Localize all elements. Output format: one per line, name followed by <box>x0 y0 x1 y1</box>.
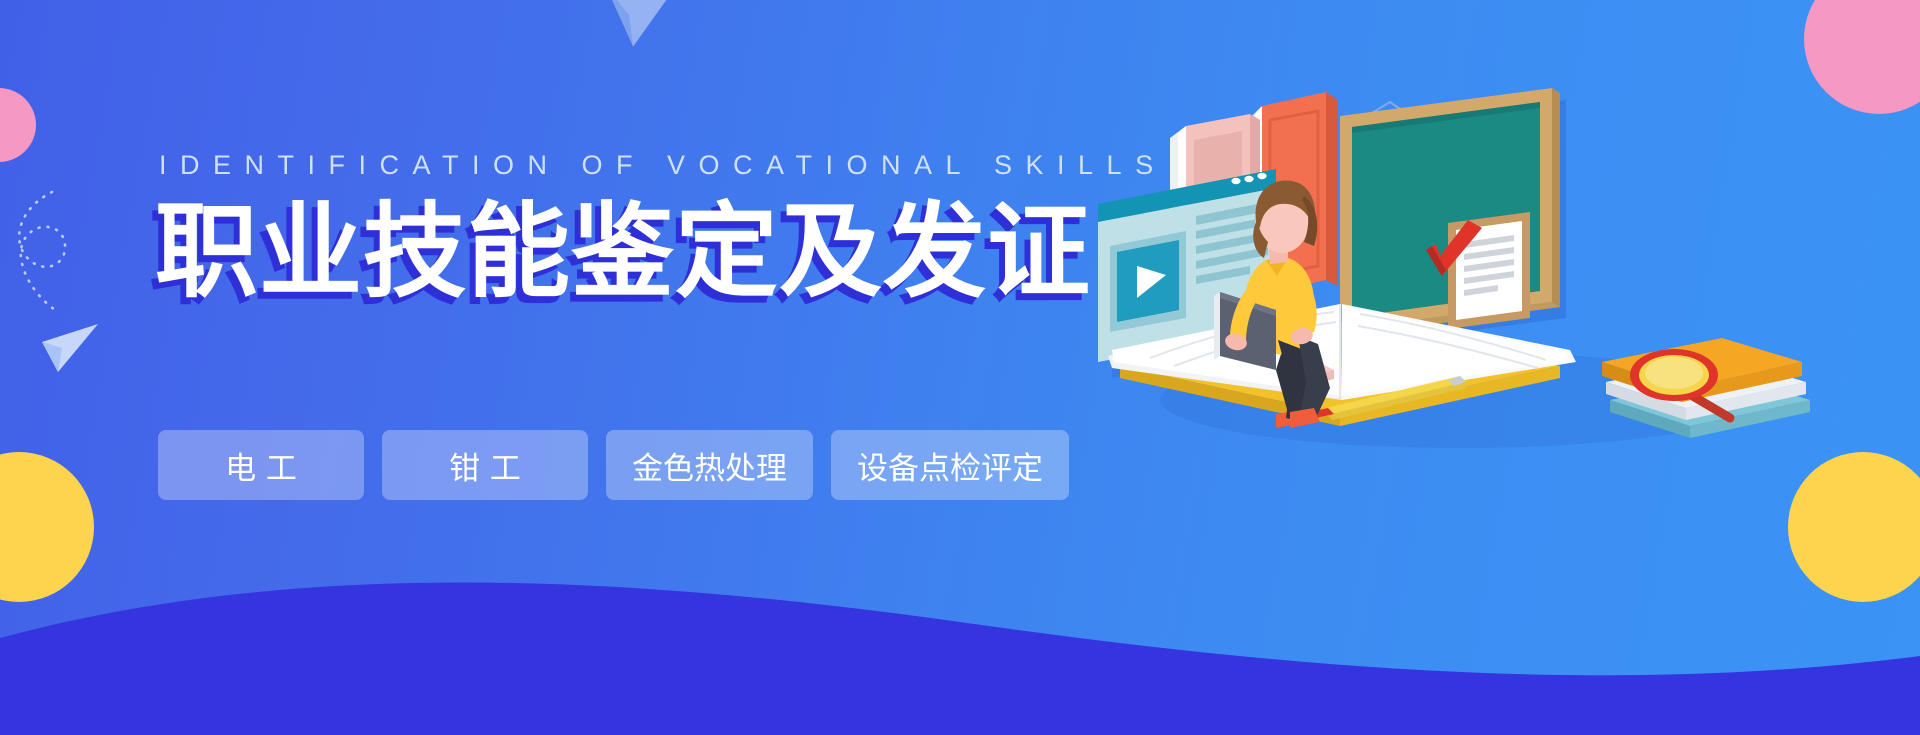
banner-headline: 职业技能鉴定及发证 <box>155 198 1075 306</box>
tag-button-fitter[interactable]: 钳 工 <box>382 430 588 500</box>
circle-pink-left <box>0 88 36 162</box>
banner-text-block: IDENTIFICATION OF VOCATIONAL SKILLS 职业技能… <box>155 150 1075 306</box>
e-learning-isometric-illustration <box>1090 70 1920 450</box>
paper-plane-top-icon <box>600 0 678 64</box>
tag-button-equipment-inspection[interactable]: 设备点检评定 <box>831 430 1069 500</box>
dotted-loop-doodle <box>6 188 98 318</box>
promo-banner: IDENTIFICATION OF VOCATIONAL SKILLS 职业技能… <box>0 0 1920 735</box>
tag-button-heat-treatment[interactable]: 金色热处理 <box>606 430 813 500</box>
tag-button-row: 电 工 钳 工 金色热处理 设备点检评定 <box>158 430 1069 500</box>
banner-subtitle: IDENTIFICATION OF VOCATIONAL SKILLS <box>155 150 1075 181</box>
green-chalkboard <box>1340 88 1566 346</box>
tag-button-electrician[interactable]: 电 工 <box>158 430 364 500</box>
paper-plane-left-icon <box>40 320 100 380</box>
bottom-wave <box>0 560 1920 735</box>
